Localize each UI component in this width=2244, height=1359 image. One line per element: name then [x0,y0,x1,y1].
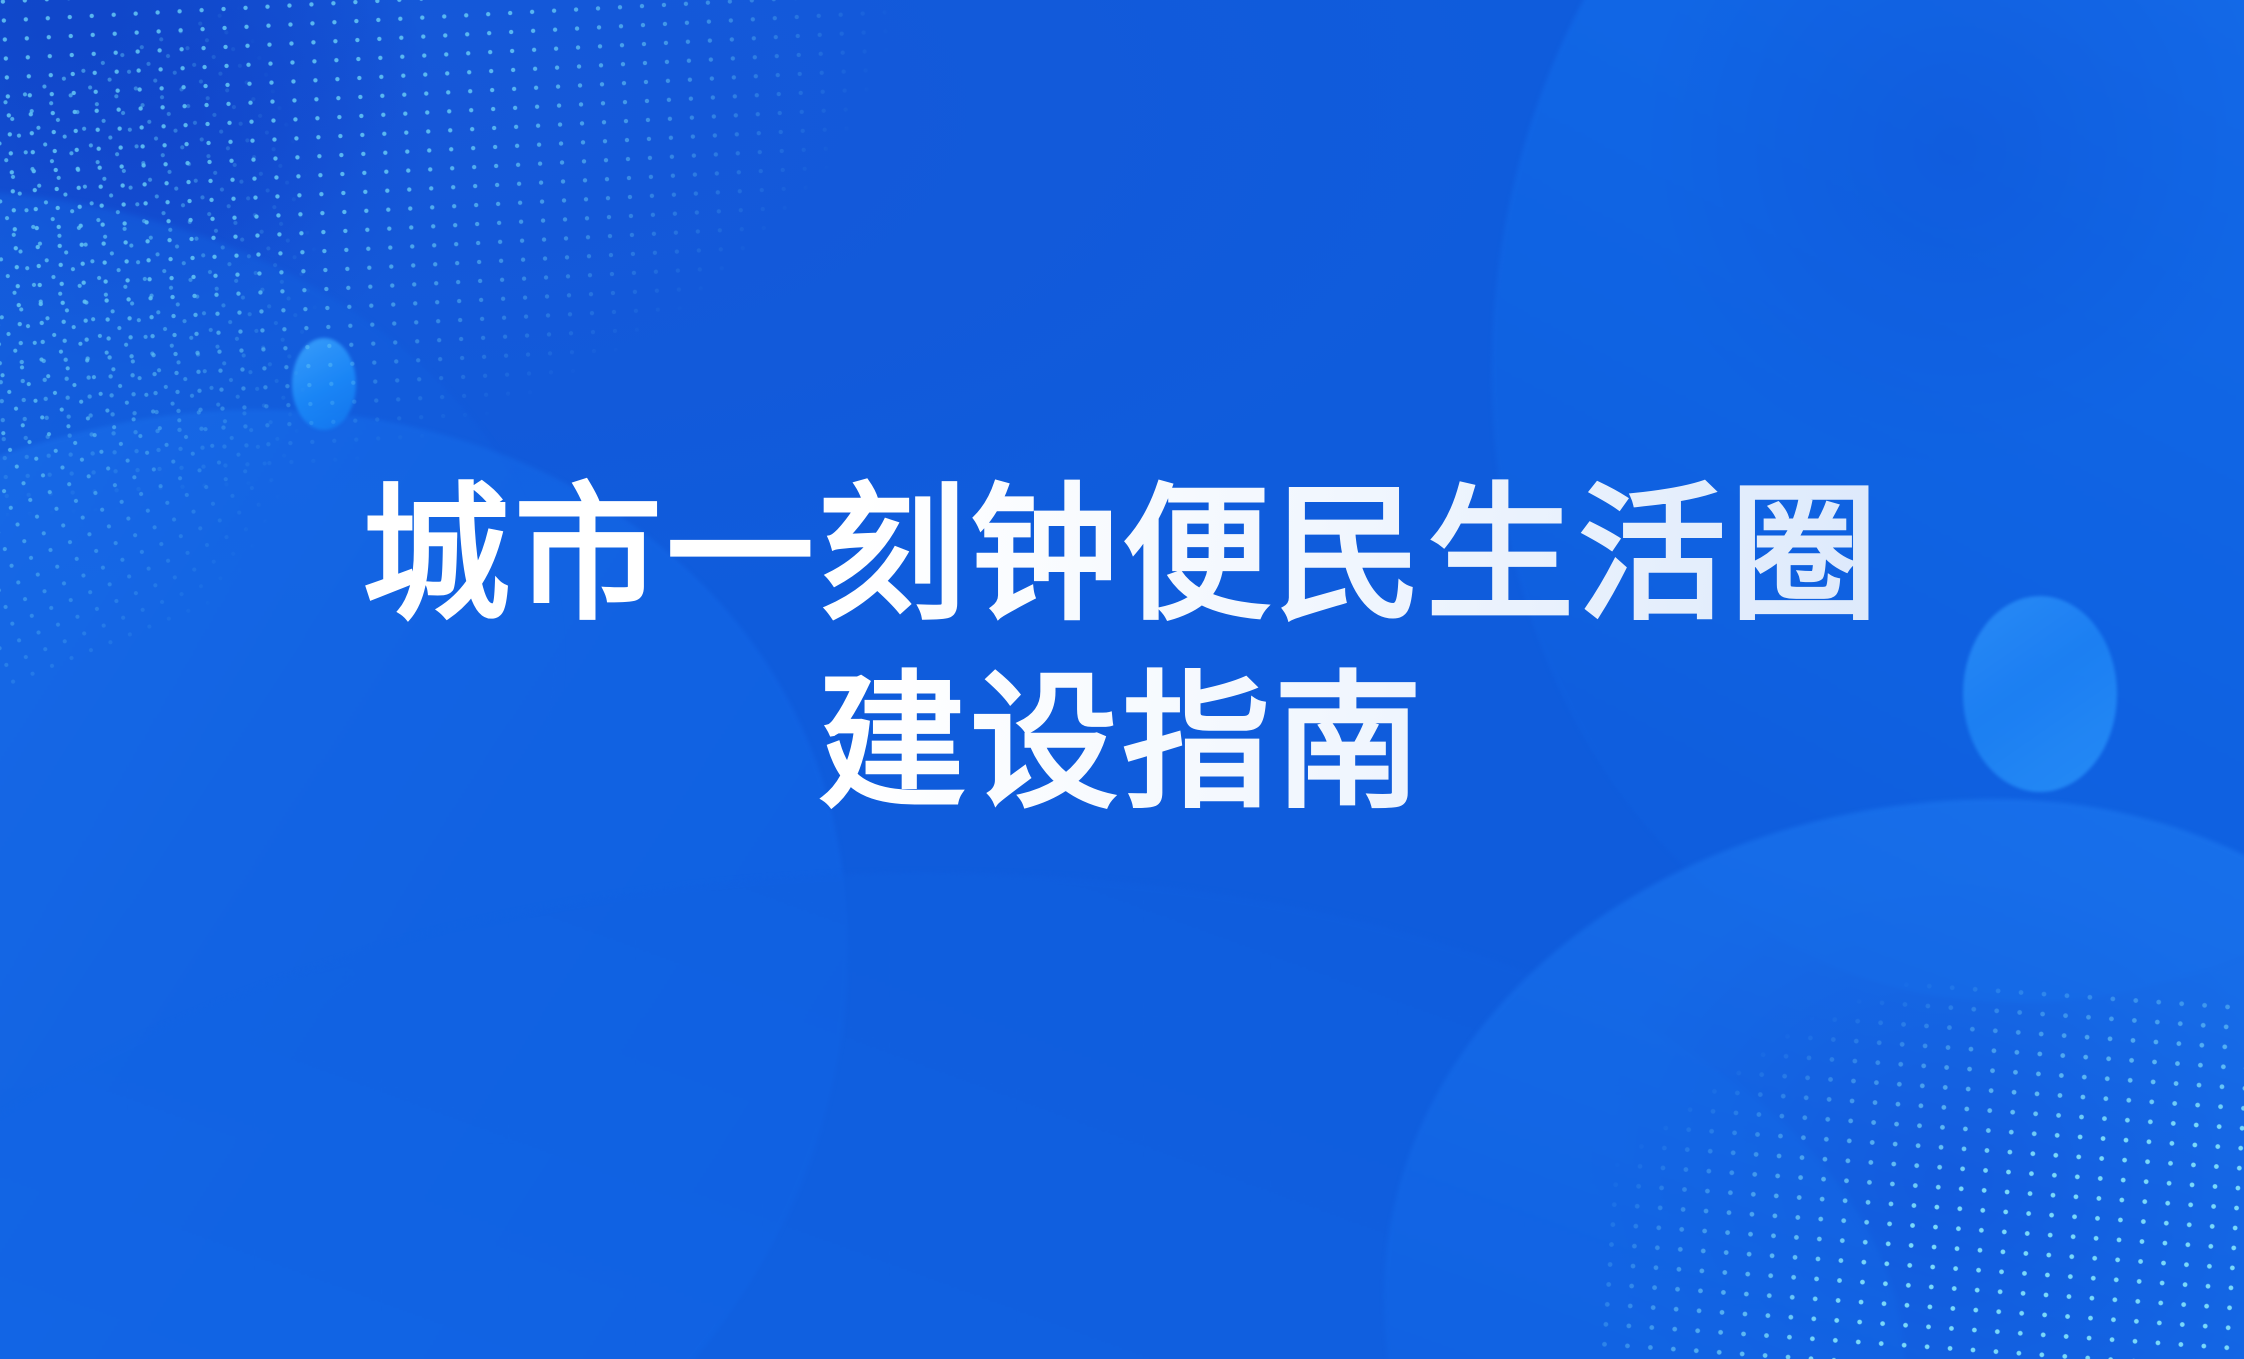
poster-title-line-2: 建设指南 [0,650,2244,838]
poster-title: 城市一刻钟便民生活圈 建设指南 [0,462,2244,838]
background-wash-top-left [0,0,560,500]
poster-canvas: 城市一刻钟便民生活圈 建设指南 [0,0,2244,1359]
poster-title-line-1: 城市一刻钟便民生活圈 [0,462,2244,650]
